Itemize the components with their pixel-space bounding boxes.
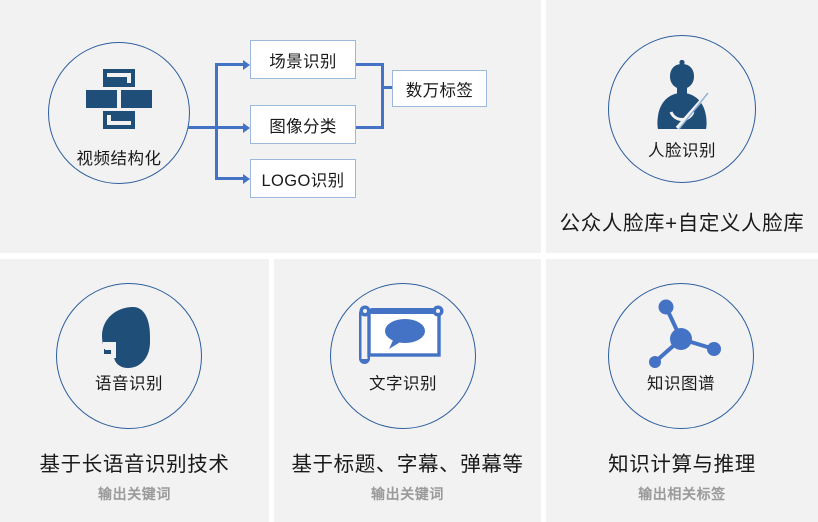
speech-recognition-circle-label: 语音识别 [56,370,202,394]
connector-to-image [215,126,244,129]
flow-box-scene[interactable]: 场景识别 [250,40,356,79]
panel-knowledge-graph: 知识图谱 知识计算与推理 输出相关标签 [546,259,818,522]
speech-caption-main: 基于长语音识别技术 [0,447,269,477]
flow-box-tags[interactable]: 数万标签 [392,70,487,107]
speech-head-icon [92,306,164,370]
panel-face-recognition: 人脸识别 公众人脸库+自定义人脸库 [546,0,818,253]
connector-image-out [356,126,384,129]
arrow-to-scene [243,60,250,70]
panel-text-recognition: 文字识别 基于标题、字幕、弹幕等 输出关键词 [274,259,541,522]
capability-overview-board: 视频结构化 场景识别 图像分类 LOGO识别 数万标签 [0,0,818,522]
knowledge-graph-icon [636,299,728,379]
arrow-to-image [243,123,250,133]
face-recognition-icon [651,60,713,130]
panel-speech-recognition: 语音识别 基于长语音识别技术 输出关键词 [0,259,269,522]
arrow-to-logo [243,174,250,184]
banner-speech-bubble-icon [356,304,450,372]
connector-hub-bus [215,63,218,180]
kg-caption-sub: 输出相关标签 [546,484,818,504]
speech-caption-sub: 输出关键词 [0,484,269,504]
panel-video-structuring: 视频结构化 场景识别 图像分类 LOGO识别 数万标签 [0,0,541,253]
flow-box-image[interactable]: 图像分类 [250,105,356,144]
video-structuring-circle-label: 视频结构化 [48,145,190,169]
kg-caption-main: 知识计算与推理 [546,447,818,477]
connector-to-logo [215,177,244,180]
connector-hub-stem [188,126,218,129]
knowledge-graph-circle-label: 知识图谱 [608,370,754,394]
flow-box-logo[interactable]: LOGO识别 [250,159,356,198]
ocr-caption-sub: 输出关键词 [274,484,541,504]
connector-to-scene [215,63,244,66]
face-caption-main: 公众人脸库+自定义人脸库 [546,206,818,236]
connector-scene-out [356,63,384,66]
video-structuring-icon [86,69,152,129]
text-recognition-circle-label: 文字识别 [330,370,476,394]
ocr-caption-main: 基于标题、字幕、弹幕等 [274,447,541,477]
connector-merge-bus [381,63,384,129]
face-recognition-circle-label: 人脸识别 [608,137,756,161]
